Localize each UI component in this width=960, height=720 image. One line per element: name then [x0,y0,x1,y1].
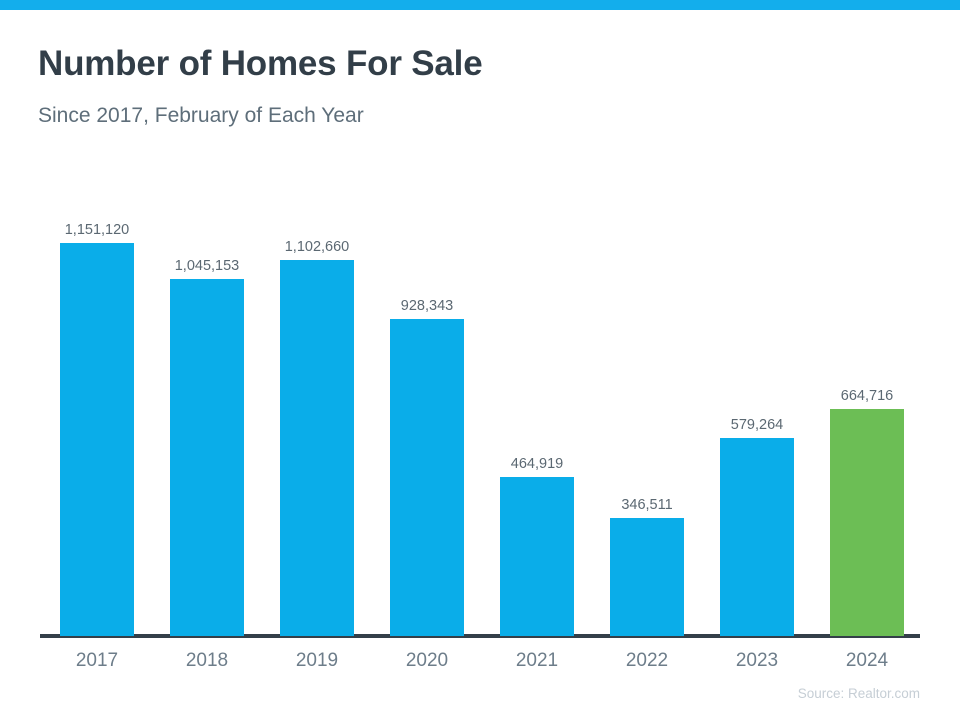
bar-group-2020: 928,3432020 [390,319,464,636]
bar-group-2019: 1,102,6602019 [280,260,354,636]
bar-chart-plot: 1,151,12020171,045,15320181,102,66020199… [0,0,960,720]
bar-2023 [720,438,794,636]
bar-2017 [60,243,134,636]
bar-2018 [170,279,244,636]
bar-value-label-2022: 346,511 [588,497,706,513]
bar-value-label-2023: 579,264 [698,417,816,433]
source-note: Source: Realtor.com [798,686,920,701]
bar-group-2017: 1,151,1202017 [60,243,134,636]
bar-value-label-2017: 1,151,120 [38,222,156,238]
bar-group-2023: 579,2642023 [720,438,794,636]
x-axis-label-2024: 2024 [808,650,926,672]
bar-2024 [830,409,904,636]
bar-2022 [610,518,684,636]
bar-group-2024: 664,7162024 [830,409,904,636]
x-axis-label-2020: 2020 [368,650,486,672]
bar-2021 [500,477,574,636]
x-axis-label-2018: 2018 [148,650,266,672]
bar-value-label-2019: 1,102,660 [258,239,376,255]
bar-2020 [390,319,464,636]
bar-value-label-2020: 928,343 [368,298,486,314]
x-axis-label-2021: 2021 [478,650,596,672]
x-axis-label-2023: 2023 [698,650,816,672]
bar-value-label-2024: 664,716 [808,388,926,404]
bar-2019 [280,260,354,636]
bar-group-2021: 464,9192021 [500,477,574,636]
bar-group-2018: 1,045,1532018 [170,279,244,636]
x-axis-label-2022: 2022 [588,650,706,672]
bar-value-label-2021: 464,919 [478,456,596,472]
x-axis-label-2017: 2017 [38,650,156,672]
chart-page: Number of Homes For Sale Since 2017, Feb… [0,0,960,720]
x-axis-label-2019: 2019 [258,650,376,672]
bar-value-label-2018: 1,045,153 [148,258,266,274]
bar-group-2022: 346,5112022 [610,518,684,636]
